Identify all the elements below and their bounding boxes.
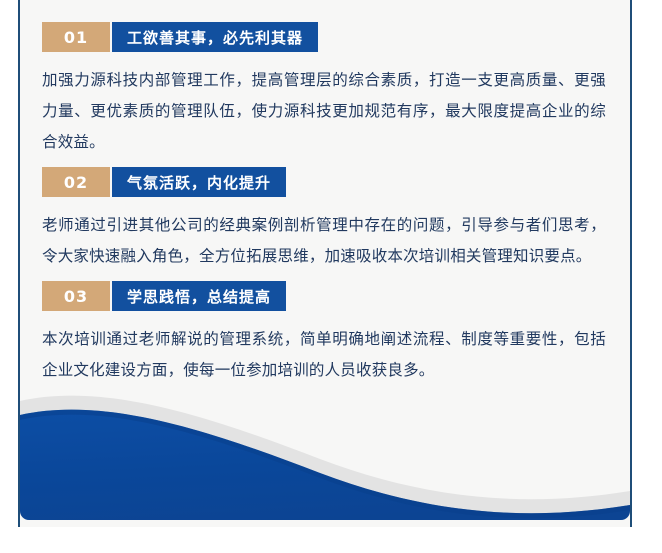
- section-01-number-badge: 01: [42, 22, 110, 52]
- wave-svg: [20, 387, 630, 527]
- page-root: 01 工欲善其事，必先利其器 加强力源科技内部管理工作，提高管理层的综合素质，打…: [0, 0, 662, 553]
- wave-decoration: [20, 387, 630, 527]
- section-03-body: 本次培训通过老师解说的管理系统，简单明确地阐述流程、制度等重要性，包括企业文化建…: [42, 324, 608, 386]
- wave-blue-crest: [20, 410, 630, 519]
- section-03-title-badge: 学思践悟，总结提高: [112, 281, 286, 311]
- section-02-header: 02 气氛活跃，内化提升: [42, 167, 608, 197]
- section-01-header: 01 工欲善其事，必先利其器: [42, 22, 608, 52]
- section-02-title-badge: 气氛活跃，内化提升: [112, 167, 286, 197]
- section-01-title-badge: 工欲善其事，必先利其器: [112, 22, 318, 52]
- section-02-body: 老师通过引进其他公司的经典案例剖析管理中存在的问题，引导参与者们思考，令大家快速…: [42, 210, 608, 272]
- section-03-header: 03 学思践悟，总结提高: [42, 281, 608, 311]
- sections-container: 01 工欲善其事，必先利其器 加强力源科技内部管理工作，提高管理层的综合素质，打…: [20, 0, 630, 395]
- section-02-number-badge: 02: [42, 167, 110, 197]
- section-01-body: 加强力源科技内部管理工作，提高管理层的综合素质，打造一支更高质量、更强力量、更优…: [42, 65, 608, 158]
- section-02: 02 气氛活跃，内化提升 老师通过引进其他公司的经典案例剖析管理中存在的问题，引…: [42, 167, 608, 272]
- section-03-number-badge: 03: [42, 281, 110, 311]
- section-01: 01 工欲善其事，必先利其器 加强力源科技内部管理工作，提高管理层的综合素质，打…: [42, 22, 608, 158]
- wave-blue-path: [20, 410, 630, 527]
- content-card: 01 工欲善其事，必先利其器 加强力源科技内部管理工作，提高管理层的综合素质，打…: [18, 0, 632, 527]
- wave-gray-path: [20, 396, 630, 527]
- section-03: 03 学思践悟，总结提高 本次培训通过老师解说的管理系统，简单明确地阐述流程、制…: [42, 281, 608, 386]
